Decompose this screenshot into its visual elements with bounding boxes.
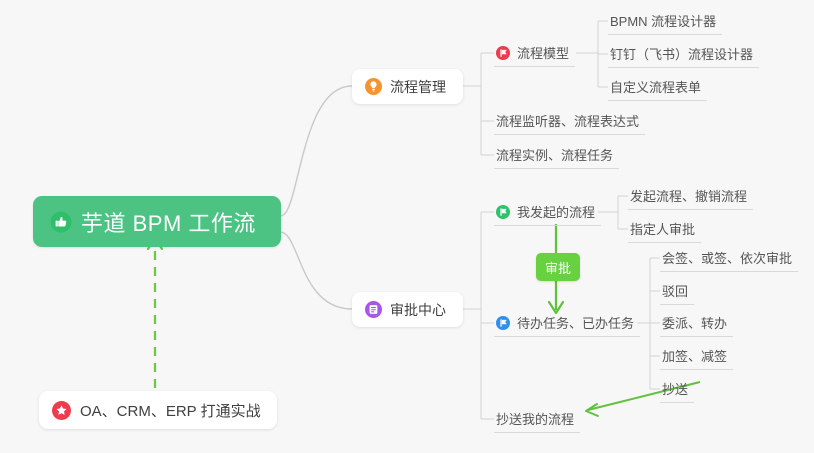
leaf-delegate-transfer[interactable]: 委派、转办 (660, 309, 733, 337)
leaf-add-remove-sign[interactable]: 加签、减签 (660, 342, 733, 370)
branch-label: 审批中心 (390, 300, 446, 320)
leaf-label: 自定义流程表单 (610, 77, 701, 96)
leaf-label: 流程模型 (517, 43, 569, 62)
flag-icon (496, 46, 510, 60)
leaf-instance-task[interactable]: 流程实例、流程任务 (494, 141, 619, 169)
leaf-label: 发起流程、撤销流程 (630, 186, 747, 205)
leaf-todo-done-tasks[interactable]: 待办任务、已办任务 (494, 309, 640, 337)
root-node[interactable]: 芋道 BPM 工作流 (33, 196, 281, 247)
flag-icon (496, 316, 510, 330)
leaf-label: 流程实例、流程任务 (496, 145, 613, 164)
thumbs-up-icon (50, 211, 72, 233)
leaf-label: 加签、减签 (662, 346, 727, 365)
bottom-note-label: OA、CRM、ERP 打通实战 (80, 400, 261, 421)
leaf-label: 指定人审批 (630, 219, 695, 238)
leaf-label: 待办任务、已办任务 (517, 313, 634, 332)
leaf-label: 驳回 (662, 281, 688, 300)
flag-icon (496, 205, 510, 219)
leaf-process-model[interactable]: 流程模型 (494, 39, 575, 67)
bottom-note-node[interactable]: OA、CRM、ERP 打通实战 (39, 391, 277, 429)
leaf-cc-to-me-processes[interactable]: 抄送我的流程 (494, 405, 580, 433)
leaf-countersign-types[interactable]: 会签、或签、依次审批 (660, 244, 798, 272)
leaf-label: 会签、或签、依次审批 (662, 248, 792, 267)
leaf-label: BPMN 流程设计器 (610, 11, 716, 30)
branch-label: 流程管理 (390, 77, 446, 97)
leaf-bpmn-designer[interactable]: BPMN 流程设计器 (608, 7, 722, 35)
root-label: 芋道 BPM 工作流 (81, 206, 256, 238)
leaf-label: 钉钉（飞书）流程设计器 (610, 44, 753, 63)
flow-tag-approval: 审批 (536, 253, 580, 281)
clipboard-icon (365, 301, 382, 318)
leaf-cc[interactable]: 抄送 (660, 375, 694, 403)
leaf-start-cancel-process[interactable]: 发起流程、撤销流程 (628, 182, 753, 210)
lightbulb-icon (365, 78, 382, 95)
branch-process-management[interactable]: 流程管理 (352, 69, 463, 104)
leaf-dingtalk-feishu-designer[interactable]: 钉钉（飞书）流程设计器 (608, 40, 759, 68)
mindmap-canvas: 芋道 BPM 工作流 流程管理 流程模型 BPMN 流程设计器 钉钉（飞书）流程 (0, 0, 814, 453)
flow-tag-label: 审批 (545, 258, 571, 277)
leaf-label: 流程监听器、流程表达式 (496, 111, 639, 130)
leaf-reject[interactable]: 驳回 (660, 277, 694, 305)
leaf-listener-expression[interactable]: 流程监听器、流程表达式 (494, 107, 645, 135)
leaf-label: 我发起的流程 (517, 202, 595, 221)
star-icon (52, 401, 71, 420)
leaf-custom-form[interactable]: 自定义流程表单 (608, 73, 707, 101)
branch-approval-center[interactable]: 审批中心 (352, 292, 463, 327)
leaf-my-started-processes[interactable]: 我发起的流程 (494, 198, 601, 226)
leaf-label: 委派、转办 (662, 313, 727, 332)
leaf-assignee-approval[interactable]: 指定人审批 (628, 215, 701, 243)
leaf-label: 抄送 (662, 379, 688, 398)
leaf-label: 抄送我的流程 (496, 409, 574, 428)
